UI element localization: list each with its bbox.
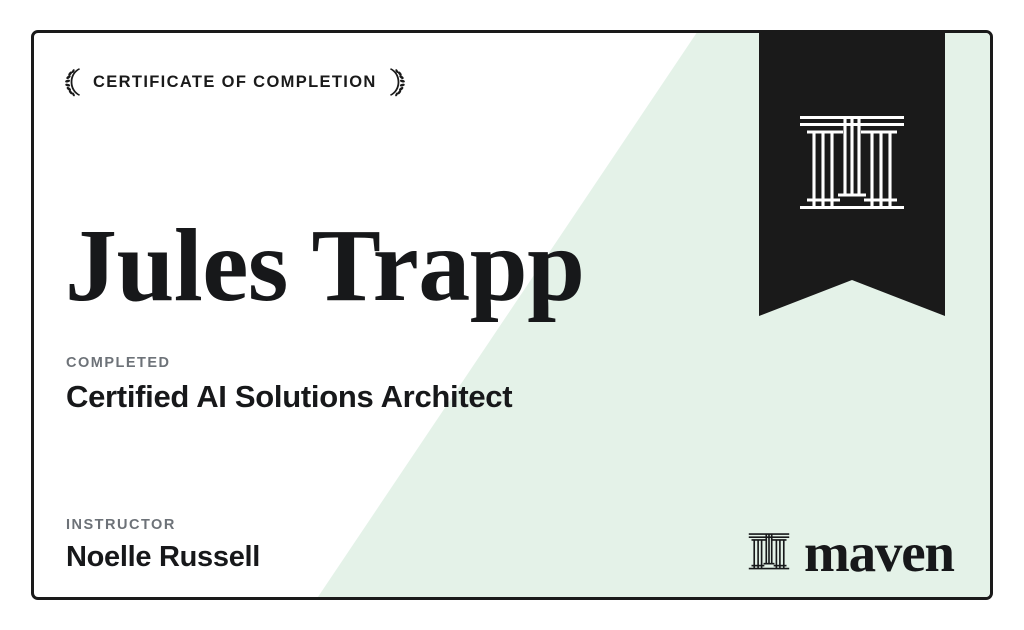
eyebrow-label: CERTIFICATE OF COMPLETION (93, 74, 377, 91)
instructor-label: INSTRUCTOR (66, 518, 260, 533)
completed-label: COMPLETED (66, 356, 512, 371)
laurel-wreath-left-icon (65, 67, 84, 97)
instructor-field: INSTRUCTOR Noelle Russell (66, 518, 260, 573)
maven-column-icon (798, 111, 906, 217)
certificate-page: CERTIFICATE OF COMPLETION (0, 0, 1024, 630)
recipient-name: Jules Trapp (65, 214, 584, 318)
certificate-card: CERTIFICATE OF COMPLETION (31, 30, 993, 600)
completed-field: COMPLETED Certified AI Solutions Archite… (66, 356, 512, 414)
certificate-card-inner: CERTIFICATE OF COMPLETION (34, 33, 990, 597)
maven-brand-lockup: maven (748, 524, 954, 580)
course-title: Certified AI Solutions Architect (66, 380, 512, 414)
laurel-wreath-right-icon (386, 67, 405, 97)
ribbon-badge (759, 33, 945, 316)
maven-column-logo-icon (748, 531, 790, 573)
certificate-eyebrow: CERTIFICATE OF COMPLETION (65, 67, 405, 97)
maven-wordmark: maven (804, 525, 954, 580)
instructor-name: Noelle Russell (66, 542, 260, 574)
